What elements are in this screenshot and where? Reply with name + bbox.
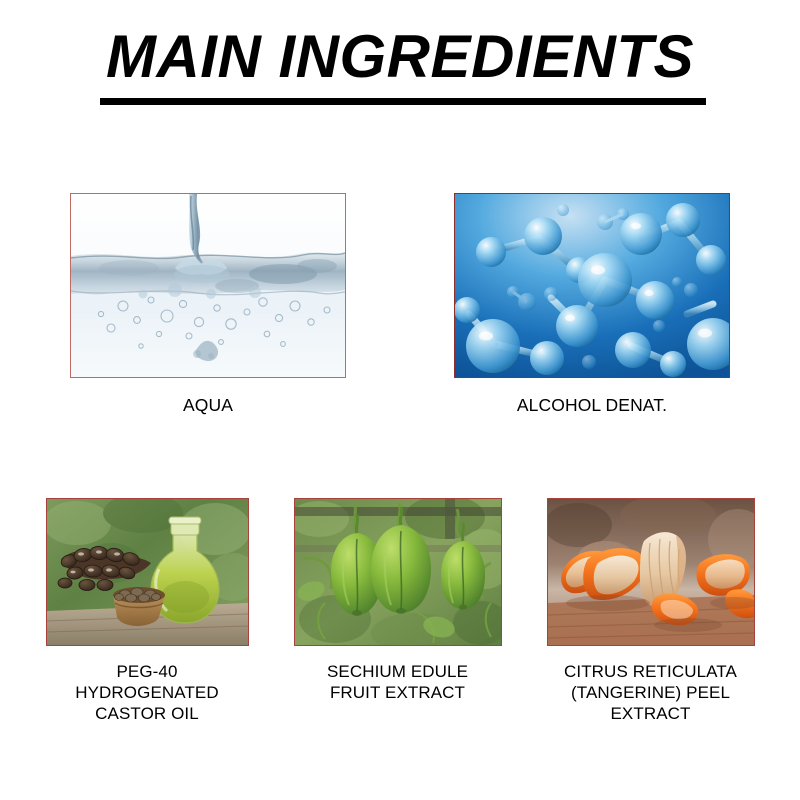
ingredient-label: SECHIUM EDULE FRUIT EXTRACT: [327, 661, 468, 703]
water-splash-photo: [70, 193, 346, 378]
page-title: MAIN INGREDIENTS: [0, 24, 800, 90]
ingredient-row-bottom: PEG-40 HYDROGENATED CASTOR OIL: [0, 498, 800, 724]
ingredient-card-alcohol-denat[interactable]: ALCOHOL DENAT.: [454, 193, 730, 417]
chayote-fruit-photo: [294, 498, 502, 646]
page-title-block: MAIN INGREDIENTS: [0, 24, 800, 90]
infographic-page: MAIN INGREDIENTS: [0, 0, 800, 800]
molecule-structure-photo: [454, 193, 730, 378]
ingredient-card-peg-40-hydrogenated-castor-oil[interactable]: PEG-40 HYDROGENATED CASTOR OIL: [46, 498, 249, 724]
ingredient-label: CITRUS RETICULATA (TANGERINE) PEEL EXTRA…: [564, 661, 737, 724]
ingredient-label: AQUA: [183, 395, 233, 417]
ingredient-card-aqua[interactable]: AQUA: [70, 193, 346, 417]
title-underline-bar: [100, 98, 706, 105]
ingredient-card-citrus-reticulata-tangerine-peel-extract[interactable]: CITRUS RETICULATA (TANGERINE) PEEL EXTRA…: [547, 498, 755, 724]
ingredient-row-top: AQUA: [0, 193, 800, 417]
ingredient-label: ALCOHOL DENAT.: [517, 395, 667, 417]
ingredient-label: PEG-40 HYDROGENATED CASTOR OIL: [75, 661, 219, 724]
tangerine-peel-photo: [547, 498, 755, 646]
ingredient-card-sechium-edule-fruit-extract[interactable]: SECHIUM EDULE FRUIT EXTRACT: [294, 498, 502, 724]
castor-seeds-oil-photo: [46, 498, 249, 646]
